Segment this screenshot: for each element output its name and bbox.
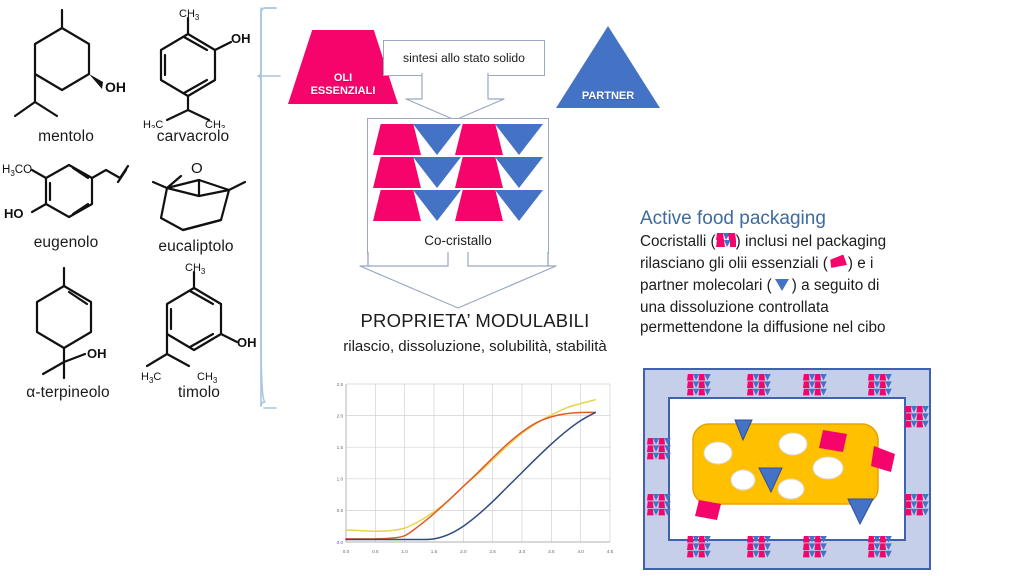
cocrystal-caption: Co-cristallo bbox=[368, 233, 548, 248]
afp-line3-a: partner molecolari ( bbox=[640, 277, 772, 294]
alpha-terpineolo-structure-icon: OH bbox=[2, 262, 134, 384]
svg-text:H3CO: H3CO bbox=[2, 164, 32, 178]
blue-triangle bbox=[495, 157, 543, 188]
pink-trapezoid bbox=[373, 190, 421, 221]
essential-oils-shape: OLI ESSENZIALI bbox=[288, 30, 398, 104]
chart-xtick-label: 3.0 bbox=[519, 549, 526, 554]
afp-body: Cocristalli () inclusi nel packaging ril… bbox=[640, 232, 985, 337]
blue-triangle bbox=[413, 157, 461, 188]
afp-line1-a: Cocristalli ( bbox=[640, 233, 716, 250]
afp-line5: permettendone la diffusione nel cibo bbox=[640, 319, 886, 336]
afp-line2-b: ) e i bbox=[848, 255, 874, 272]
lattice-row bbox=[373, 124, 543, 155]
cheese-hole bbox=[779, 433, 807, 455]
blue-triangle bbox=[495, 124, 543, 155]
chart-ytick-label: 0.5 bbox=[337, 508, 344, 513]
cocrystal-lattice bbox=[373, 124, 543, 224]
chart-xtick-label: 3.5 bbox=[548, 549, 555, 554]
molecule-label: timolo bbox=[140, 384, 258, 402]
svg-text:HO: HO bbox=[4, 206, 24, 221]
essential-oil-inline-icon bbox=[828, 255, 848, 276]
chart-xtick-label: 2.5 bbox=[489, 549, 496, 554]
food-packaging-illustration bbox=[643, 368, 931, 570]
afp-line1-b: ) inclusi nel packaging bbox=[736, 233, 887, 250]
oils-label-line1: OLI bbox=[311, 72, 376, 84]
svg-text:O: O bbox=[191, 160, 203, 177]
cocrystal-inline-icon bbox=[716, 233, 736, 254]
svg-text:OH: OH bbox=[231, 31, 251, 46]
mentolo-structure-icon: OH bbox=[6, 6, 126, 128]
lattice-row bbox=[373, 190, 543, 221]
svg-text:CH3: CH3 bbox=[205, 119, 226, 128]
dissolution-profile-chart: 0.00.51.01.52.02.53.03.54.04.50.00.51.01… bbox=[324, 376, 616, 562]
eugenolo-structure-icon: H3CO HO bbox=[2, 160, 130, 234]
active-food-packaging-block: Active food packaging Cocristalli () inc… bbox=[640, 208, 985, 337]
cheese-hole bbox=[778, 479, 804, 499]
synthesis-label-box: sintesi allo stato solido bbox=[383, 40, 545, 76]
molecule-timolo: CH3 OH H3C CH3 timolo bbox=[140, 258, 258, 402]
carvacrolo-structure-icon: CH3 OH H3C CH3 bbox=[130, 6, 256, 128]
properties-title: PROPRIETA’ MODULABILI bbox=[300, 310, 650, 332]
cocrystal-box: Co-cristallo bbox=[367, 118, 549, 254]
cheese-hole bbox=[813, 457, 843, 479]
svg-text:H3C: H3C bbox=[141, 371, 161, 384]
blue-triangle bbox=[495, 190, 543, 221]
pink-trapezoid bbox=[455, 124, 503, 155]
blue-triangle bbox=[413, 124, 461, 155]
chart-ytick-label: 2.0 bbox=[337, 413, 344, 418]
properties-list: rilascio, dissoluzione, solubilità, stab… bbox=[300, 338, 650, 355]
partner-label: PARTNER bbox=[582, 90, 634, 102]
chart-xtick-label: 4.0 bbox=[577, 549, 584, 554]
afp-line3-b: ) a seguito di bbox=[792, 277, 880, 294]
chart-xtick-label: 1.5 bbox=[431, 549, 438, 554]
timolo-structure-icon: CH3 OH H3C CH3 bbox=[140, 258, 258, 384]
molecule-label: eucaliptolo bbox=[136, 238, 256, 256]
pink-trapezoid bbox=[455, 190, 503, 221]
molecule-mentolo: OH mentolo bbox=[6, 6, 126, 146]
modulable-properties-block: PROPRIETA’ MODULABILI rilascio, dissoluz… bbox=[300, 310, 650, 355]
essential-oil-molecules-panel: OH mentolo CH3 OH H3C CH3 carv bbox=[0, 0, 258, 420]
svg-text:OH: OH bbox=[237, 335, 257, 350]
svg-text:CH3: CH3 bbox=[197, 371, 218, 384]
chart-ytick-label: 1.5 bbox=[337, 445, 344, 450]
chart-xtick-label: 2.0 bbox=[460, 549, 467, 554]
svg-text:OH: OH bbox=[87, 346, 107, 361]
svg-text:H3C: H3C bbox=[143, 119, 163, 128]
afp-line2-a: rilasciano gli olii essenziali ( bbox=[640, 255, 828, 272]
molecule-label: eugenolo bbox=[2, 234, 130, 252]
pink-trapezoid bbox=[455, 157, 503, 188]
partner-shape: PARTNER bbox=[556, 26, 660, 108]
synthesis-down-arrow bbox=[400, 73, 510, 121]
molecule-alpha-terpineolo: OH α-terpineolo bbox=[2, 262, 134, 402]
molecule-label: α-terpineolo bbox=[2, 384, 134, 402]
grouping-bracket bbox=[256, 6, 282, 410]
lattice-row bbox=[373, 157, 543, 188]
svg-text:CH3: CH3 bbox=[185, 262, 206, 276]
chart-ytick-label: 1.0 bbox=[337, 477, 344, 482]
pink-trapezoid bbox=[373, 124, 421, 155]
svg-text:CH3: CH3 bbox=[179, 8, 200, 22]
chart-xtick-label: 1.0 bbox=[401, 549, 408, 554]
chart-xtick-label: 4.5 bbox=[607, 549, 614, 554]
chart-ytick-label: 2.5 bbox=[337, 382, 344, 387]
svg-text:OH: OH bbox=[105, 79, 125, 95]
chart-xtick-label: 0.0 bbox=[343, 549, 350, 554]
synthesis-label-text: sintesi allo stato solido bbox=[403, 51, 525, 65]
chart-xtick-label: 0.5 bbox=[372, 549, 379, 554]
eucaliptolo-structure-icon: O bbox=[136, 158, 256, 238]
blue-triangle bbox=[413, 190, 461, 221]
pink-trapezoid bbox=[373, 157, 421, 188]
molecule-carvacrolo: CH3 OH H3C CH3 carvacrolo bbox=[130, 6, 256, 146]
molecule-eucaliptolo: O eucaliptolo bbox=[136, 158, 256, 256]
oils-label-line2: ESSENZIALI bbox=[311, 85, 376, 97]
afp-heading: Active food packaging bbox=[640, 208, 985, 230]
cheese-hole bbox=[731, 470, 755, 490]
molecule-label: mentolo bbox=[6, 128, 126, 146]
chart-ytick-label: 0.0 bbox=[337, 540, 344, 545]
chart-canvas: 0.00.51.01.52.02.53.03.54.04.50.00.51.01… bbox=[324, 376, 616, 562]
afp-line4: una dissoluzione controllata bbox=[640, 299, 829, 316]
molecule-eugenolo: H3CO HO eugenolo bbox=[2, 160, 130, 252]
molecule-label: carvacrolo bbox=[130, 128, 256, 146]
cheese-hole bbox=[704, 442, 732, 464]
partner-inline-icon bbox=[772, 277, 792, 298]
properties-down-arrow bbox=[358, 252, 558, 310]
